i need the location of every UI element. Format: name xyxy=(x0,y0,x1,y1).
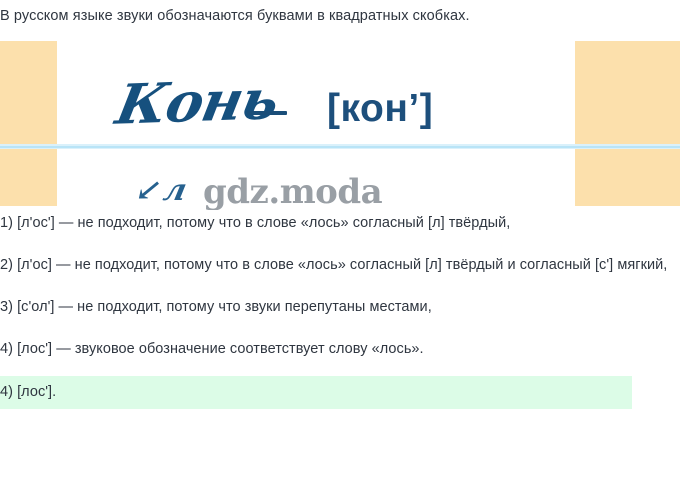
answer-option-1: 1) [л'ос'] — не подходит, потому что в с… xyxy=(0,208,680,239)
beige-block-right xyxy=(575,41,680,206)
watermark: gdz.moda xyxy=(203,172,382,210)
scribble-mark-1: ↙ xyxy=(133,176,165,206)
intro-sentence: В русском языке звуки обозначаются буква… xyxy=(0,6,676,26)
answer-option-3: 3) [с'ол'] — не подходит, потому что зву… xyxy=(0,292,680,323)
answer-option-2: 2) [л'ос] — не подходит, потому что в сл… xyxy=(0,250,680,281)
scribble-mark-2: л xyxy=(161,176,189,206)
final-answer-highlight: 4) [лос']. xyxy=(0,376,632,409)
answer-list: 1) [л'ос'] — не подходит, потому что в с… xyxy=(0,208,680,409)
answer-option-4: 4) [лос'] — звуковое обозначение соответ… xyxy=(0,334,680,365)
illustration-band: Конь [кон’] ↙ л gdz.moda xyxy=(0,34,680,210)
phonetic-transcription: [кон’] xyxy=(327,85,433,133)
handwritten-word: Конь xyxy=(112,69,284,135)
beige-block-left xyxy=(0,41,57,206)
dash-icon xyxy=(247,111,287,115)
notebook-rule-line-core xyxy=(0,146,680,148)
